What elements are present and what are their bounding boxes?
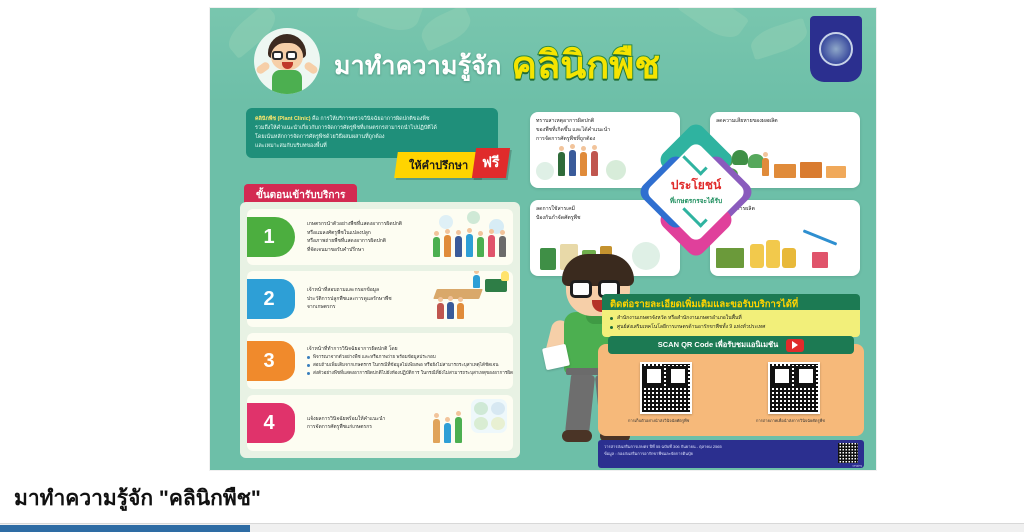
person-figure — [444, 423, 451, 443]
step-number-badge: 4 — [247, 403, 295, 443]
free-badge-emphasis: ฟรี — [482, 152, 499, 174]
step-bullet: พิจารณาจากตัวอย่างพืช และหรือภาพถ่าย พร้… — [307, 353, 513, 361]
avatar — [254, 28, 320, 94]
qr-code-image[interactable]: SCAN ME — [640, 362, 692, 414]
qr-code-item[interactable]: SCAN ME การถ่ายภาพเพื่อนำส่งการวินิจฉัยศ… — [764, 362, 824, 424]
free-badge-label-plate: ให้คำปรึกษา — [394, 152, 484, 178]
bottle-icon — [491, 417, 505, 430]
benefits-title-block: ประโยชน์ ที่เกษตรกรจะได้รับ — [656, 176, 736, 206]
step-illustration — [427, 271, 513, 327]
produce-crate-icon — [800, 162, 822, 178]
glasses-icon — [286, 51, 297, 60]
step-line: แจ้งผลการวินิจฉัยพร้อมให้คำแนะนำ — [307, 415, 425, 424]
step-number-badge: 2 — [247, 279, 295, 319]
step-line: จากเกษตรกร — [307, 303, 425, 312]
step-item: 2 เจ้าหน้าที่สอบถามและกรอกข้อมูล ประวัติ… — [247, 271, 513, 327]
benefit-line: ทราบสาเหตุอาการผิดปกติ — [536, 117, 674, 126]
character-leg-left — [565, 373, 595, 437]
free-consultation-badge: ให้คำปรึกษา ฟรี — [396, 148, 508, 180]
qr-section: SCAN QR Code เพื่อรับชมแอนิเมชัน SCAN ME… — [598, 344, 864, 436]
step-text: เจ้าหน้าที่ทำการวินิจฉัยอาการผิดปกติ โดย… — [305, 341, 513, 382]
step-illustration — [427, 209, 513, 265]
page-title: มาทำความรู้จัก คลินิกพืช — [334, 38, 796, 94]
footer-qr-code[interactable] — [838, 443, 858, 463]
footer-qr-label: วารสาร — [852, 464, 862, 469]
qr-code-caption: การถ่ายภาพเพื่อนำส่งการวินิจฉัยศัตรูพืช — [756, 417, 816, 424]
horizontal-scrollbar[interactable] — [0, 523, 1024, 532]
free-badge-label: ให้คำปรึกษา — [409, 156, 468, 174]
free-badge-emphasis-plate: ฟรี — [472, 148, 510, 178]
contact-item: สำนักงานเกษตรจังหวัด หรือสำนักงานเกษตรอำ… — [610, 314, 852, 323]
lightbulb-icon — [501, 271, 509, 281]
page-root: มาทำความรู้จัก คลินิกพืช คลินิกพืช (Plan… — [0, 0, 1024, 532]
pest-icon — [491, 402, 505, 415]
contact-item: ศูนย์ส่งเสริมเทคโนโลยีการเกษตรด้านอารักข… — [610, 323, 852, 332]
step-line: เจ้าหน้าที่ทำการวินิจฉัยอาการผิดปกติ โดย — [307, 345, 513, 354]
avatar-arm-left — [255, 61, 271, 76]
emblem-icon — [819, 32, 853, 66]
glasses-icon — [272, 51, 283, 60]
person-figure — [444, 235, 451, 257]
coin-stack-icon — [782, 248, 796, 268]
step-item: 1 เกษตรกรนำตัวอย่างพืชที่แสดงอาการผิดปกต… — [247, 209, 513, 265]
qr-code-item[interactable]: SCAN ME การเก็บตัวอย่างนำส่งวินิจฉัยศัตร… — [636, 362, 696, 424]
person-figure — [488, 235, 495, 257]
step-text: เกษตรกรนำตัวอย่างพืชที่แสดงอาการผิดปกติ … — [305, 216, 427, 258]
leaf-decoration — [356, 8, 424, 37]
title-main-text: มาทำความรู้จัก — [334, 46, 502, 86]
info-bubble-icon — [467, 211, 480, 224]
poster-header: มาทำความรู้จัก คลินิกพืช — [210, 8, 876, 104]
benefit-line: ลดความเสียหายของผลผลิต — [716, 117, 854, 126]
step-number-badge: 3 — [247, 341, 295, 381]
step-item: 3 เจ้าหน้าที่ทำการวินิจฉัยอาการผิดปกติ โ… — [247, 333, 513, 389]
person-figure — [455, 417, 462, 443]
scan-me-label: SCAN ME — [791, 362, 818, 365]
scan-me-label: SCAN ME — [663, 362, 690, 365]
footer-line: วารสารส่งเสริมการเกษตร ปีที่ 55 ฉบับที่ … — [604, 444, 858, 451]
character-shoe-left — [562, 430, 592, 442]
qr-section-header: SCAN QR Code เพื่อรับชมแอนิเมชัน — [608, 336, 854, 354]
step-item: 4 แจ้งผลการวินิจฉัยพร้อมให้คำแนะนำ การจั… — [247, 395, 513, 451]
intro-line-rest: คือ การให้บริการตรวจวินิจฉัยอาการผิดปกติ… — [311, 116, 430, 122]
leaf-icon — [474, 402, 488, 415]
avatar-arm-right — [303, 61, 319, 76]
person-figure — [762, 158, 769, 176]
info-bubble-icon — [439, 215, 453, 229]
image-caption: มาทำความรู้จัก "คลินิกพืช" — [14, 482, 261, 515]
benefits-title: ประโยชน์ — [656, 176, 736, 195]
cost-box-icon — [812, 252, 828, 268]
person-figure — [473, 275, 480, 288]
benefits-section: ทราบสาเหตุอาการผิดปกติ ของพืชที่เกิดขึ้น… — [530, 108, 860, 278]
produce-crate-icon — [774, 164, 796, 178]
coin-stack-icon — [766, 240, 780, 268]
plant-circle-icon — [606, 160, 626, 180]
leaf-circle-icon — [536, 162, 554, 180]
play-triangle — [792, 341, 798, 349]
plant-icon — [474, 417, 488, 430]
benefits-diamond: ประโยชน์ ที่เกษตรกรจะได้รับ — [648, 132, 744, 252]
step-line: การจัดการศัตรูพืชแก่เกษตรกร — [307, 423, 425, 432]
person-figure — [499, 236, 506, 257]
step-line: ที่จัดเจนมาขอรับคำปรึกษา — [307, 246, 425, 255]
person-figure — [558, 152, 565, 176]
contact-section-body: สำนักงานเกษตรจังหวัด หรือสำนักงานเกษตรอำ… — [602, 310, 860, 337]
qr-code-image[interactable]: SCAN ME — [768, 362, 820, 414]
avatar-body — [272, 70, 302, 94]
person-figure — [569, 150, 576, 176]
person-figure — [477, 237, 484, 257]
intro-line: คลินิกพืช (Plant Clinic) คือ การให้บริกา… — [255, 115, 489, 124]
person-figure — [433, 237, 440, 257]
step-line: เจ้าหน้าที่สอบถามและกรอกข้อมูล — [307, 286, 425, 295]
down-arrow-icon — [803, 229, 838, 245]
glasses-icon — [570, 280, 592, 298]
benefits-subtitle: ที่เกษตรกรจะได้รับ — [656, 196, 736, 206]
qr-code-caption: การเก็บตัวอย่างนำส่งวินิจฉัยศัตรูพืช — [628, 417, 688, 424]
person-figure — [457, 303, 464, 319]
step-text: แจ้งผลการวินิจฉัยพร้อมให้คำแนะนำ การจัดก… — [305, 411, 427, 436]
person-figure — [591, 151, 598, 176]
step-bullet: สอบถ้ามเพิ่มเติมจากเกษตรกร ในกรณีที่ข้อม… — [307, 361, 513, 369]
footer-line: ข้อมูล : กองส่งเสริมการอารักขาพืชและจัดก… — [604, 451, 858, 458]
scrollbar-thumb[interactable] — [0, 525, 250, 532]
step-illustration — [427, 395, 513, 451]
step-line: หรือแมลงศัตรูพืชในแปลงปลูก — [307, 229, 425, 238]
coin-stack-icon — [750, 244, 764, 268]
intro-line: โดยเน้นหลักการจัดการศัตรูพืชด้วยวิธีผสมผ… — [255, 133, 489, 142]
step-line: หรือภาพถ่ายพืชที่แสดงอาการผิดปกติ — [307, 237, 425, 246]
step-line: เกษตรกรนำตัวอย่างพืชที่แสดงอาการผิดปกติ — [307, 220, 425, 229]
step-bullet: ส่งตัวอย่างพืชที่แสดงอาการผิดปกติไปยังห้… — [307, 369, 513, 377]
qr-section-label: SCAN QR Code เพื่อรับชมแอนิเมชัน — [658, 339, 779, 351]
poster-footer: วารสารส่งเสริมการเกษตร ปีที่ 55 ฉบับที่ … — [598, 440, 864, 468]
youtube-play-icon[interactable] — [786, 339, 804, 352]
organization-logo — [810, 16, 862, 82]
person-figure — [466, 234, 473, 257]
person-figure — [580, 152, 587, 176]
person-figure — [455, 236, 462, 257]
steps-panel: 1 เกษตรกรนำตัวอย่างพืชที่แสดงอาการผิดปกต… — [240, 202, 520, 458]
person-figure — [447, 302, 454, 319]
produce-crate-icon — [826, 166, 846, 178]
step-text: เจ้าหน้าที่สอบถามและกรอกข้อมูล ประวัติกา… — [305, 282, 427, 316]
intro-highlight: คลินิกพืช (Plant Clinic) — [255, 116, 311, 122]
title-accent-text: คลินิกพืช — [512, 47, 661, 85]
person-figure — [433, 419, 440, 443]
intro-line: รวมถึงให้คำแนะนำเกี่ยวกับการจัดการศัตรูพ… — [255, 124, 489, 133]
infographic-poster: มาทำความรู้จัก คลินิกพืช คลินิกพืช (Plan… — [210, 8, 876, 470]
step-line: ประวัติการปลูกพืชและการดูแลรักษาพืช — [307, 295, 425, 304]
person-figure — [437, 303, 444, 319]
step-number-badge: 1 — [247, 217, 295, 257]
